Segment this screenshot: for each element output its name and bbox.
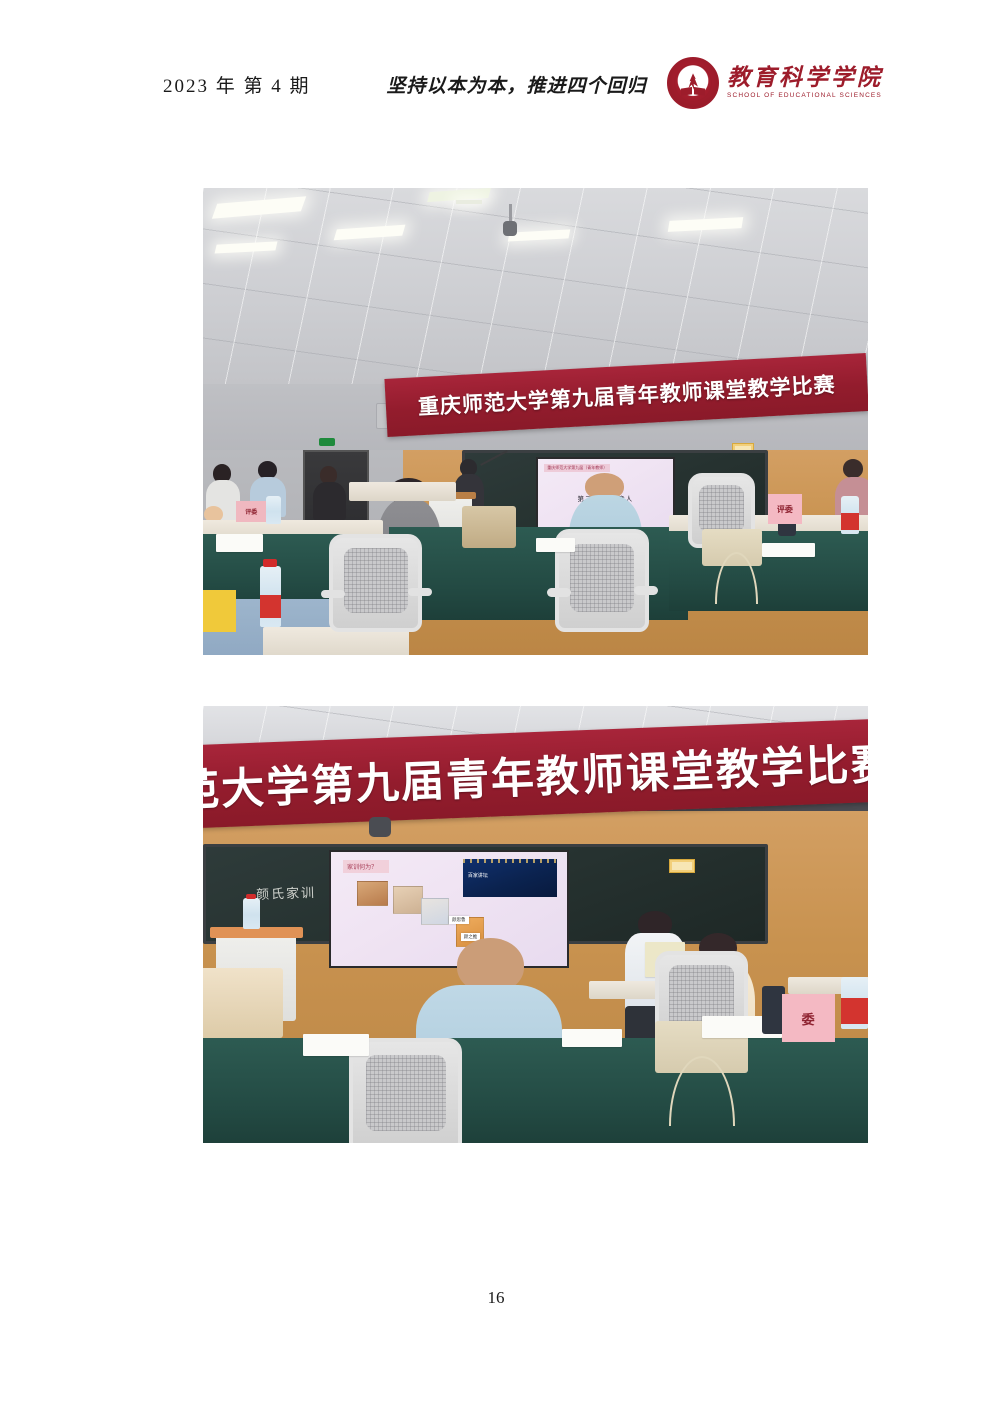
- head: [258, 461, 277, 479]
- slide-tag: 重庆师范大学第九届（青年教师）: [544, 464, 610, 472]
- ceiling-light: [508, 230, 570, 242]
- chair-mesh: [699, 485, 743, 533]
- document-paper: [562, 1029, 622, 1046]
- slide-portrait-image: [421, 898, 449, 925]
- seal-book-icon: [681, 87, 705, 96]
- water-bottle: [841, 496, 858, 533]
- chair-back: [329, 534, 422, 632]
- ceiling-light: [334, 225, 405, 241]
- bottle-label: [841, 998, 868, 1024]
- bottle-label: [841, 513, 858, 530]
- figure-classroom-wide: 重庆师范大学第九届青年教师课堂教学比赛 重庆师范大学第九届（青年教师） 第二课 …: [203, 188, 868, 655]
- slide-question: 家训何为？: [343, 860, 389, 873]
- photo-1-scene: 重庆师范大学第九届青年教师课堂教学比赛 重庆师范大学第九届（青年教师） 第二课 …: [203, 188, 868, 655]
- wall-notice-sign: [669, 859, 695, 873]
- video-caption: 百家讲坛: [468, 872, 488, 879]
- chair-mesh: [344, 548, 409, 613]
- slide-portrait-image: [357, 881, 388, 906]
- chair-arm: [634, 586, 658, 594]
- head: [320, 466, 337, 484]
- ceiling-light: [212, 197, 307, 220]
- slide-video-thumbnail: 百家讲坛: [463, 859, 557, 897]
- school-seal-icon: [667, 57, 719, 109]
- desk-surface: [349, 482, 455, 501]
- photo-2-scene: 范大学第九届青年教师课堂教学比赛 颜氏家训 家训何为？ 百家讲坛 颜思鲁 颜之推: [203, 706, 868, 1143]
- audience-member: [313, 466, 346, 520]
- tote-bag: [203, 968, 283, 1038]
- banner-text: 重庆师范大学第九届青年教师课堂教学比赛: [417, 368, 836, 421]
- exit-sign-icon: [319, 438, 335, 446]
- judge-placard: 评委: [236, 501, 266, 522]
- issue-line: 2023 年 第 4 期: [163, 71, 311, 98]
- school-logo: 教育科学学院 SCHOOL OF EDUCATIONAL SCIENCES: [667, 57, 883, 109]
- chair-mesh: [570, 544, 635, 612]
- ceiling-light: [456, 200, 483, 204]
- blackboard-handwriting: 颜氏家训: [256, 882, 317, 903]
- header-slogan: 坚持以本为本，推进四个回归: [387, 71, 647, 98]
- bottle-cap: [246, 894, 256, 899]
- banner-text: 范大学第九届青年教师课堂教学比赛: [203, 729, 868, 819]
- slide-label: 颜思鲁: [449, 916, 469, 924]
- water-bottle: [243, 898, 260, 929]
- chair-mesh: [366, 1055, 446, 1131]
- document-paper: [536, 538, 576, 552]
- ceiling-light: [667, 217, 743, 232]
- body: [313, 482, 346, 520]
- chair-arm: [321, 590, 345, 598]
- notice-inner: [672, 862, 692, 870]
- projector-icon: [369, 817, 391, 837]
- slide-portrait-image: [393, 886, 424, 913]
- ceiling-light: [215, 242, 278, 254]
- yellow-placard: [203, 590, 236, 632]
- brand-text: 教育科学学院 SCHOOL OF EDUCATIONAL SCIENCES: [727, 66, 883, 100]
- bottle-cap: [263, 559, 277, 567]
- water-bottle: [841, 977, 868, 1029]
- office-chair: [329, 534, 422, 632]
- chair-arm: [408, 588, 432, 596]
- tote-bag: [462, 506, 515, 548]
- figure-classroom-closeup: 范大学第九届青年教师课堂教学比赛 颜氏家训 家训何为？ 百家讲坛 颜思鲁 颜之推: [203, 706, 868, 1143]
- document-paper: [303, 1034, 370, 1056]
- page-number: 16: [0, 1288, 992, 1308]
- document-paper: [216, 534, 263, 553]
- water-bottle: [260, 566, 281, 627]
- document-paper: [762, 543, 815, 557]
- water-bottle: [266, 496, 281, 524]
- judge-placard: 委: [782, 994, 835, 1042]
- bottle-label: [260, 595, 281, 618]
- brand-name-en: SCHOOL OF EDUCATIONAL SCIENCES: [727, 93, 883, 100]
- head: [843, 459, 864, 479]
- brand-name-cn: 教育科学学院: [727, 66, 883, 89]
- projector-icon: [503, 221, 517, 236]
- judge-placard: 评委: [768, 494, 801, 524]
- chair-arm: [547, 588, 571, 596]
- page-header: 2023 年 第 4 期 坚持以本为本，推进四个回归 教育科学学院 SCHOOL…: [163, 55, 883, 113]
